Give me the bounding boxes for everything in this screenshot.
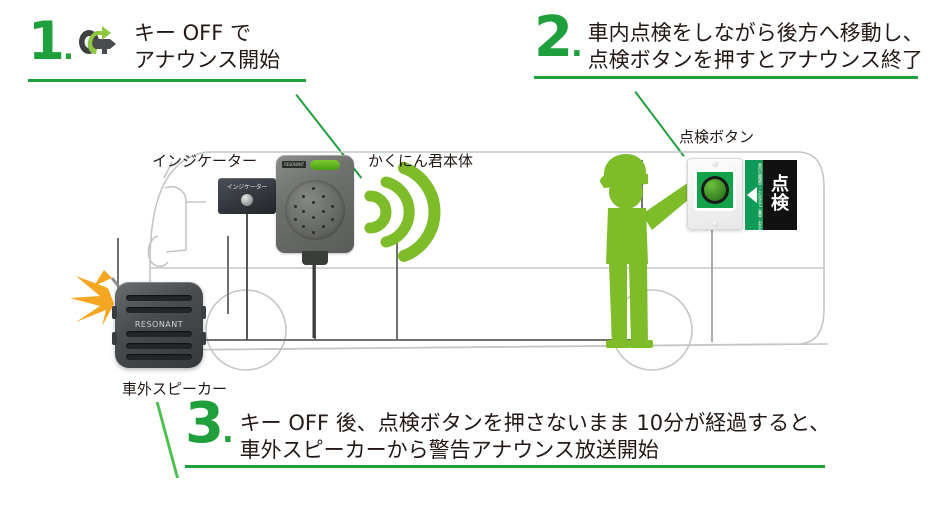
label-indicator: インジケーター [152,150,257,171]
main-unit-brand: RESONANT [282,161,306,168]
step-1-callout: 1. キー OFF で アナウンス開始 [28,18,328,82]
speaker-mount-right-2 [201,332,206,345]
inspection-button-device[interactable] [687,158,743,230]
status-led-icon [310,160,340,170]
step-1-line-2: アナウンス開始 [134,47,280,74]
sign-char-2: 検 [771,195,789,214]
speaker-mount-right [201,306,206,319]
step-3-callout: 3. キー OFF 後、点検ボタンを押さないまま 10分が経過すると、 車外スピ… [185,404,825,468]
sign-vertical-text: 点 検 [763,160,797,230]
sign-green-strip: 車内の最後部・この先までご乗車・お忘れ物なきよう [745,160,763,230]
step-1-number: 1. [28,18,74,67]
speaker-brand: RESONANT [115,320,203,329]
step-3-line-1: キー OFF 後、点検ボタンを押さないまま 10分が経過すると、 [240,410,831,437]
indicator-device: インジケーター [218,178,276,214]
step-3-text: キー OFF 後、点検ボタンを押さないまま 10分が経過すると、 車外スピーカー… [240,410,831,464]
speaker-grille-icon [285,180,345,240]
step-3-line-2: 車外スピーカーから警告アナウンス放送開始 [240,437,831,464]
step-2-text: 車内点検をしながら後方へ移動し、 点検ボタンを押すとアナウンス終了 [588,20,924,74]
alert-burst-icon [70,270,114,326]
sign-strip-text: 車内の最後部・この先までご乗車・お忘れ物なきよう [758,163,762,249]
step-3-underline [185,465,825,468]
step-3-dot: . [222,414,234,450]
inspection-sign: 車内の最後部・この先までご乗車・お忘れ物なきよう 点 検 [745,160,797,230]
main-unit-mount [302,251,328,265]
inspection-button-dome-icon[interactable] [701,176,729,204]
speaker-mount-left [112,306,117,319]
step-3-number: 3. [185,398,234,450]
step-2-callout: 2. 車内点検をしながら後方へ移動し、 点検ボタンを押すとアナウンス終了 [534,16,918,79]
label-inspection-button: 点検ボタン [679,126,754,147]
step-1-line-1: キー OFF で [134,20,280,47]
step-1-text: キー OFF で アナウンス開始 [134,20,280,74]
step-3-bracket [156,402,179,478]
indicator-caption: インジケーター [218,182,276,191]
step-2-dot: . [571,28,583,64]
inspection-button-face[interactable] [694,169,736,211]
step-2-underline [534,76,918,79]
sound-wave-arcs [370,168,434,256]
step-1-numeral: 1 [28,11,63,72]
screw-icon-top [712,161,718,167]
screw-icon-bottom [712,221,718,227]
indicator-lamp-icon [241,194,253,206]
step-1-dot: . [63,32,74,66]
left-arrow-icon [747,187,757,203]
step-2-line-1: 車内点検をしながら後方へ移動し、 [588,20,924,47]
label-exterior-speaker: 車外スピーカー [122,378,227,399]
infographic-root: 1. キー OFF で アナウンス開始 2. [0,0,940,509]
exterior-speaker-device: RESONANT [115,282,203,368]
key-off-icon [76,24,122,62]
step-1-underline [28,79,306,82]
speaker-mount-left-2 [112,332,117,345]
step-2-line-2: 点検ボタンを押すとアナウンス終了 [588,47,924,74]
main-unit-device: RESONANT [276,155,354,253]
label-main-unit: かくにん君本体 [368,150,473,171]
step-2-numeral: 2 [534,5,571,70]
step-2-number: 2. [534,12,583,64]
